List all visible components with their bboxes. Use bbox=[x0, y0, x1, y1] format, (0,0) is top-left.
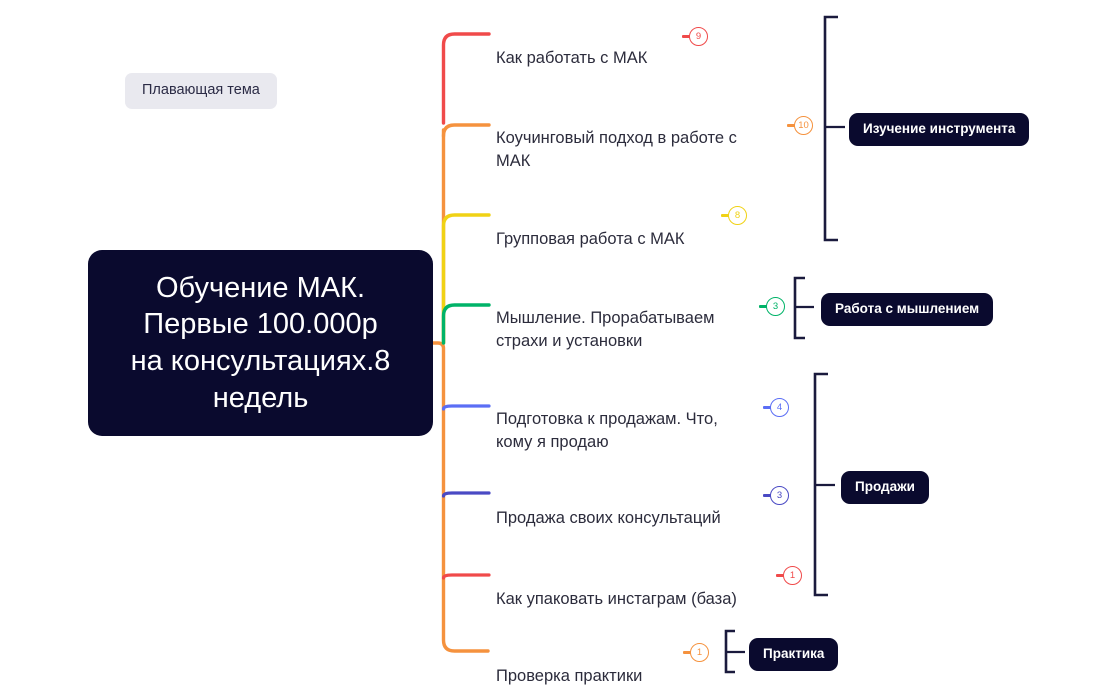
group-label-prodazhi[interactable]: Продажи bbox=[841, 471, 929, 504]
topic-badge-number-7: 1 bbox=[790, 571, 795, 581]
group-label-rabota-s-myshleniem[interactable]: Работа с мышлением bbox=[821, 293, 993, 326]
topic-badge-number-1: 9 bbox=[696, 32, 701, 42]
topic-node-6[interactable]: Продажа своих консультаций bbox=[496, 484, 721, 530]
group-bracket-3 bbox=[815, 374, 828, 595]
branch-line-2 bbox=[444, 125, 490, 136]
topic-label-7: Как упаковать инстаграм (база) bbox=[496, 590, 737, 608]
group-label-text-4: Практика bbox=[763, 646, 824, 661]
branch-line-7 bbox=[444, 575, 490, 578]
topic-label-6: Продажа своих консультаций bbox=[496, 509, 721, 527]
topic-badge-number-4: 3 bbox=[773, 302, 778, 312]
topic-badge-7[interactable]: 1 bbox=[783, 566, 802, 585]
group-label-praktika[interactable]: Практика bbox=[749, 638, 838, 671]
topic-node-2[interactable]: Коучинговый подход в работе с МАК bbox=[496, 104, 737, 172]
branch-line-4 bbox=[444, 305, 490, 343]
root-node[interactable]: Обучение МАК. Первые 100.000р на консуль… bbox=[88, 250, 433, 436]
floating-topic[interactable]: Плавающая тема bbox=[125, 73, 277, 109]
topic-label-4: Мышление. Прорабатываем страхи и установ… bbox=[496, 309, 714, 350]
topic-node-5[interactable]: Подготовка к продажам. Что, кому я прода… bbox=[496, 385, 718, 453]
topic-badge-1[interactable]: 9 bbox=[689, 27, 708, 46]
topic-badge-number-2: 10 bbox=[798, 121, 809, 131]
topic-badge-number-6: 3 bbox=[777, 491, 782, 501]
topic-badge-number-3: 8 bbox=[735, 211, 740, 221]
topic-node-4[interactable]: Мышление. Прорабатываем страхи и установ… bbox=[496, 284, 714, 352]
topic-badge-number-8: 1 bbox=[697, 648, 702, 658]
mindmap-canvas: Обучение МАК. Первые 100.000р на консуль… bbox=[0, 0, 1115, 690]
branch-line-6 bbox=[444, 493, 490, 496]
topic-label-2: Коучинговый подход в работе с МАК bbox=[496, 129, 737, 170]
group-bracket-1 bbox=[825, 17, 838, 240]
topic-label-5: Подготовка к продажам. Что, кому я прода… bbox=[496, 410, 718, 451]
group-bracket-2 bbox=[795, 278, 805, 338]
group-label-izuchenie-instrumenta[interactable]: Изучение инструмента bbox=[849, 113, 1029, 146]
topic-node-7[interactable]: Как упаковать инстаграм (база) bbox=[496, 565, 737, 611]
topic-label-3: Групповая работа с МАК bbox=[496, 230, 685, 248]
topic-label-1: Как работать с МАК bbox=[496, 49, 647, 67]
topic-badge-5[interactable]: 4 bbox=[770, 398, 789, 417]
topic-badge-4[interactable]: 3 bbox=[766, 297, 785, 316]
group-bracket-4 bbox=[726, 631, 735, 672]
topic-node-1[interactable]: Как работать с МАК bbox=[496, 24, 647, 70]
branch-line-5 bbox=[444, 406, 490, 409]
branch-line-1 bbox=[444, 34, 490, 123]
topic-badge-2[interactable]: 10 bbox=[794, 116, 813, 135]
topic-badge-8[interactable]: 1 bbox=[690, 643, 709, 662]
topic-label-8: Проверка практики bbox=[496, 667, 642, 685]
group-label-text-2: Работа с мышлением bbox=[835, 301, 979, 316]
topic-node-8[interactable]: Проверка практики bbox=[496, 642, 642, 688]
group-label-text-1: Изучение инструмента bbox=[863, 121, 1015, 136]
topic-badge-number-5: 4 bbox=[777, 403, 782, 413]
root-node-label: Обучение МАК. Первые 100.000р на консуль… bbox=[131, 270, 391, 416]
topic-badge-6[interactable]: 3 bbox=[770, 486, 789, 505]
topic-badge-3[interactable]: 8 bbox=[728, 206, 747, 225]
trunk-line bbox=[432, 343, 488, 651]
group-label-text-3: Продажи bbox=[855, 479, 915, 494]
floating-topic-label: Плавающая тема bbox=[142, 82, 260, 98]
topic-node-3[interactable]: Групповая работа с МАК bbox=[496, 205, 685, 251]
branch-line-3 bbox=[444, 215, 490, 343]
